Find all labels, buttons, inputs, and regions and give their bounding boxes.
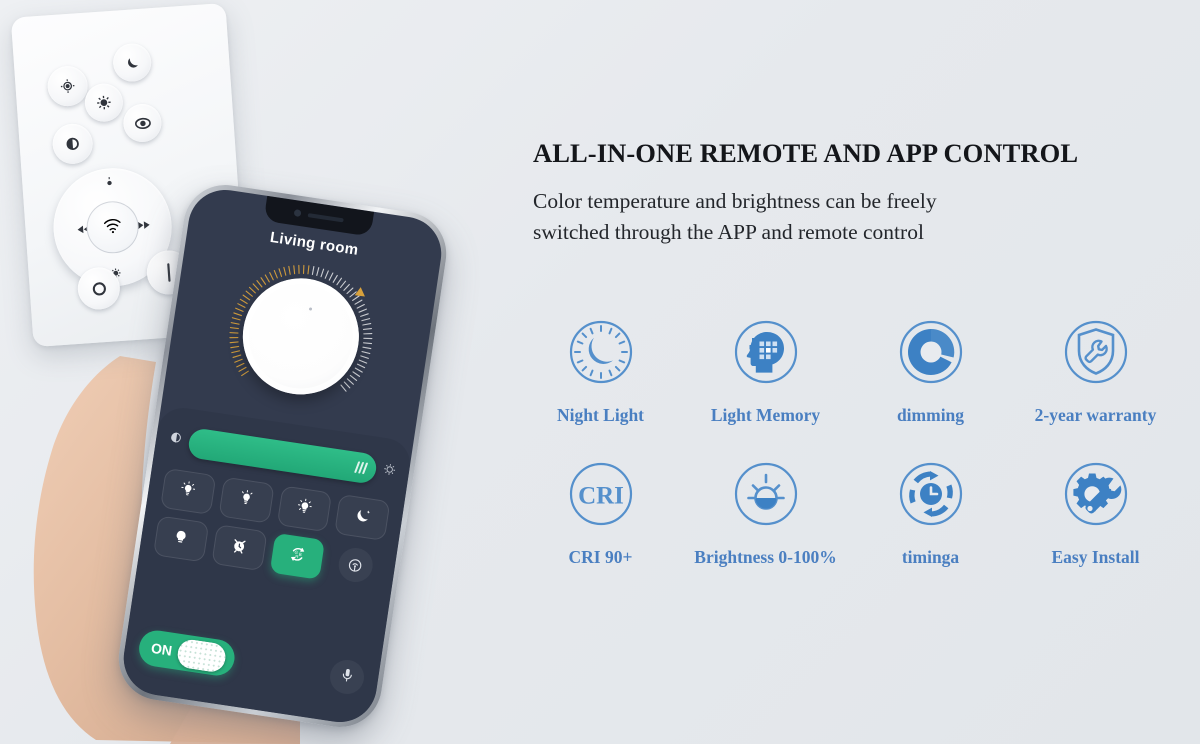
remote-dpad-center[interactable]: [85, 200, 141, 256]
feature-label: 2-year warranty: [1035, 405, 1157, 426]
feature-brightness: Brightness 0-100%: [683, 454, 848, 568]
product-feature-banner: Living room: [0, 0, 1200, 744]
feature-timing: timinga: [848, 454, 1013, 568]
scene-icon: [58, 76, 77, 95]
scene-bulb-bright[interactable]: [276, 485, 332, 532]
power-ring-icon: [89, 278, 109, 298]
front-camera-icon: [293, 209, 301, 217]
feature-light-memory: Light Memory: [683, 312, 848, 426]
sun-icon: [94, 93, 113, 112]
scene-bulb-warm[interactable]: [160, 468, 216, 515]
svg-text:B: B: [298, 551, 302, 556]
earpiece-speaker: [307, 213, 343, 222]
scene-rgb-cycle[interactable]: G B R: [269, 533, 325, 580]
scene-bulb-soft[interactable]: [218, 477, 274, 524]
voice-mic-button[interactable]: [328, 658, 367, 697]
moon-dial-icon: [561, 312, 641, 392]
bulb-rays-icon: [294, 496, 315, 521]
power-toggle-label: ON: [150, 640, 173, 659]
feature-label: Night Light: [557, 405, 644, 426]
scene-timer[interactable]: [211, 524, 267, 571]
feature-cri: CRI CRI 90+: [518, 454, 683, 568]
scene-remote[interactable]: [327, 541, 383, 588]
moon-icon: [123, 53, 141, 71]
cri-icon-text: CRI: [578, 483, 624, 510]
feature-night-light: Night Light: [518, 312, 683, 426]
moon-star-icon: [352, 505, 373, 530]
feature-label: Easy Install: [1051, 547, 1139, 568]
power-toggle-knob[interactable]: [176, 637, 228, 673]
shield-wrench-icon: [1056, 312, 1136, 392]
scene-night[interactable]: [334, 494, 390, 541]
svg-text:R: R: [295, 553, 299, 558]
feature-label: CRI 90+: [569, 547, 633, 568]
sun-brightness-icon: [726, 454, 806, 534]
bulb-off-icon: [170, 526, 191, 551]
page-subtitle: Color temperature and brightness can be …: [533, 186, 1133, 247]
dial-indicator-dot: [309, 307, 312, 310]
control-panel: G B R: [119, 405, 414, 728]
alarm-clock-icon: [229, 535, 250, 560]
subtitle-line-1: Color temperature and brightness can be …: [533, 186, 1133, 217]
scene-tile-grid: G B R: [153, 468, 391, 589]
color-temperature-dial[interactable]: [216, 252, 384, 420]
wifi-signal-icon: [336, 546, 375, 585]
slider-grip-handle[interactable]: [355, 461, 367, 474]
dim-low-icon: [168, 430, 184, 450]
eye-icon: [132, 113, 152, 133]
scene-sleep[interactable]: [153, 515, 209, 562]
feature-label: Light Memory: [711, 405, 820, 426]
feature-label: Brightness 0-100%: [694, 547, 836, 568]
feature-label: timinga: [902, 547, 959, 568]
dim-high-icon: [382, 462, 398, 482]
gear-wrench-icon: [1056, 454, 1136, 534]
bulb-rays-icon: [177, 479, 198, 504]
feature-label: dimming: [897, 405, 964, 426]
feature-dimming: dimming: [848, 312, 1013, 426]
wifi-pair-icon: [101, 214, 125, 240]
microphone-icon: [338, 665, 357, 688]
feature-grid: Night Light: [518, 312, 1178, 568]
brightness-up-icon: [102, 175, 116, 189]
half-circle-icon: [63, 134, 82, 153]
power-row: ON: [137, 628, 367, 697]
feature-warranty: 2-year warranty: [1013, 312, 1178, 426]
power-toggle[interactable]: ON: [137, 628, 237, 678]
rgb-cycle-icon: G B R: [285, 542, 308, 570]
clock-cycle-icon: [891, 454, 971, 534]
subtitle-line-2: switched through the APP and remote cont…: [533, 217, 1133, 248]
cri-text-icon: CRI: [561, 454, 641, 534]
pixel-head-icon: [726, 312, 806, 392]
bulb-rays-icon: [236, 487, 257, 512]
dimming-ring-icon: [891, 312, 971, 392]
page-title: ALL-IN-ONE REMOTE AND APP CONTROL: [533, 138, 1173, 169]
feature-easy-install: Easy Install: [1013, 454, 1178, 568]
